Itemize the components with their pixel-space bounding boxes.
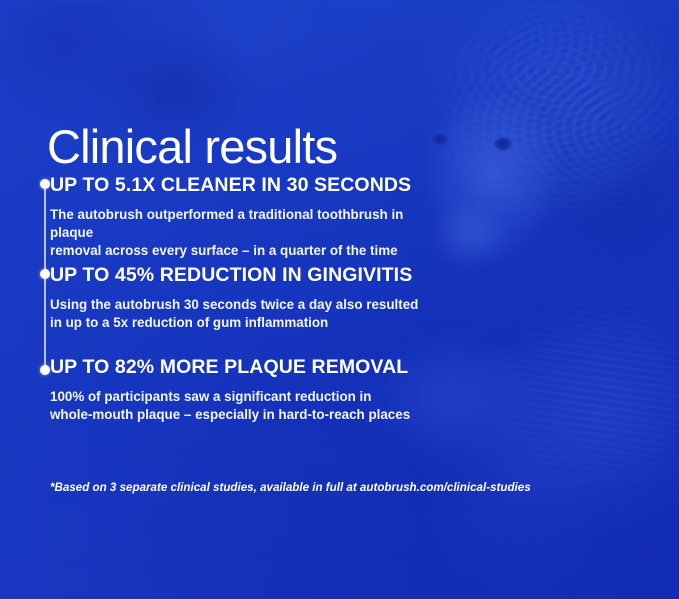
- stat-heading-2: UP TO 45% REDUCTION IN GINGIVITIS: [50, 264, 450, 287]
- stat-body-3-line-1: 100% of participants saw a significant r…: [50, 389, 371, 404]
- stat-heading-3: UP TO 82% MORE PLAQUE REMOVAL: [50, 356, 450, 379]
- stat-block-3: UP TO 82% MORE PLAQUE REMOVAL 100% of pa…: [50, 356, 450, 424]
- stat-body-1: The autobrush outperformed a traditional…: [50, 206, 450, 259]
- clinical-results-poster: Clinical results UP TO 5.1X CLEANER IN 3…: [0, 0, 679, 599]
- stat-block-2: UP TO 45% REDUCTION IN GINGIVITIS Using …: [50, 264, 450, 332]
- page-title: Clinical results: [47, 123, 337, 170]
- timeline-dot-1: [40, 179, 50, 189]
- stat-body-2-line-2: in up to a 5x reduction of gum inflammat…: [50, 315, 328, 330]
- stat-body-3-line-2: whole-mouth plaque – especially in hard-…: [50, 407, 410, 422]
- stat-body-2-line-1: Using the autobrush 30 seconds twice a d…: [50, 297, 418, 312]
- stat-body-1-line-2: removal across every surface – in a quar…: [50, 243, 398, 258]
- footnote-disclaimer: *Based on 3 separate clinical studies, a…: [50, 481, 531, 494]
- stat-heading-1: UP TO 5.1X CLEANER IN 30 SECONDS: [50, 174, 450, 197]
- stat-body-3: 100% of participants saw a significant r…: [50, 388, 450, 424]
- poster-content: Clinical results UP TO 5.1X CLEANER IN 3…: [0, 0, 679, 599]
- timeline-dot-2: [40, 269, 50, 279]
- timeline-dot-3: [40, 365, 50, 375]
- stat-body-1-line-1: The autobrush outperformed a traditional…: [50, 207, 403, 240]
- stat-body-2: Using the autobrush 30 seconds twice a d…: [50, 296, 450, 332]
- stat-block-1: UP TO 5.1X CLEANER IN 30 SECONDS The aut…: [50, 174, 450, 259]
